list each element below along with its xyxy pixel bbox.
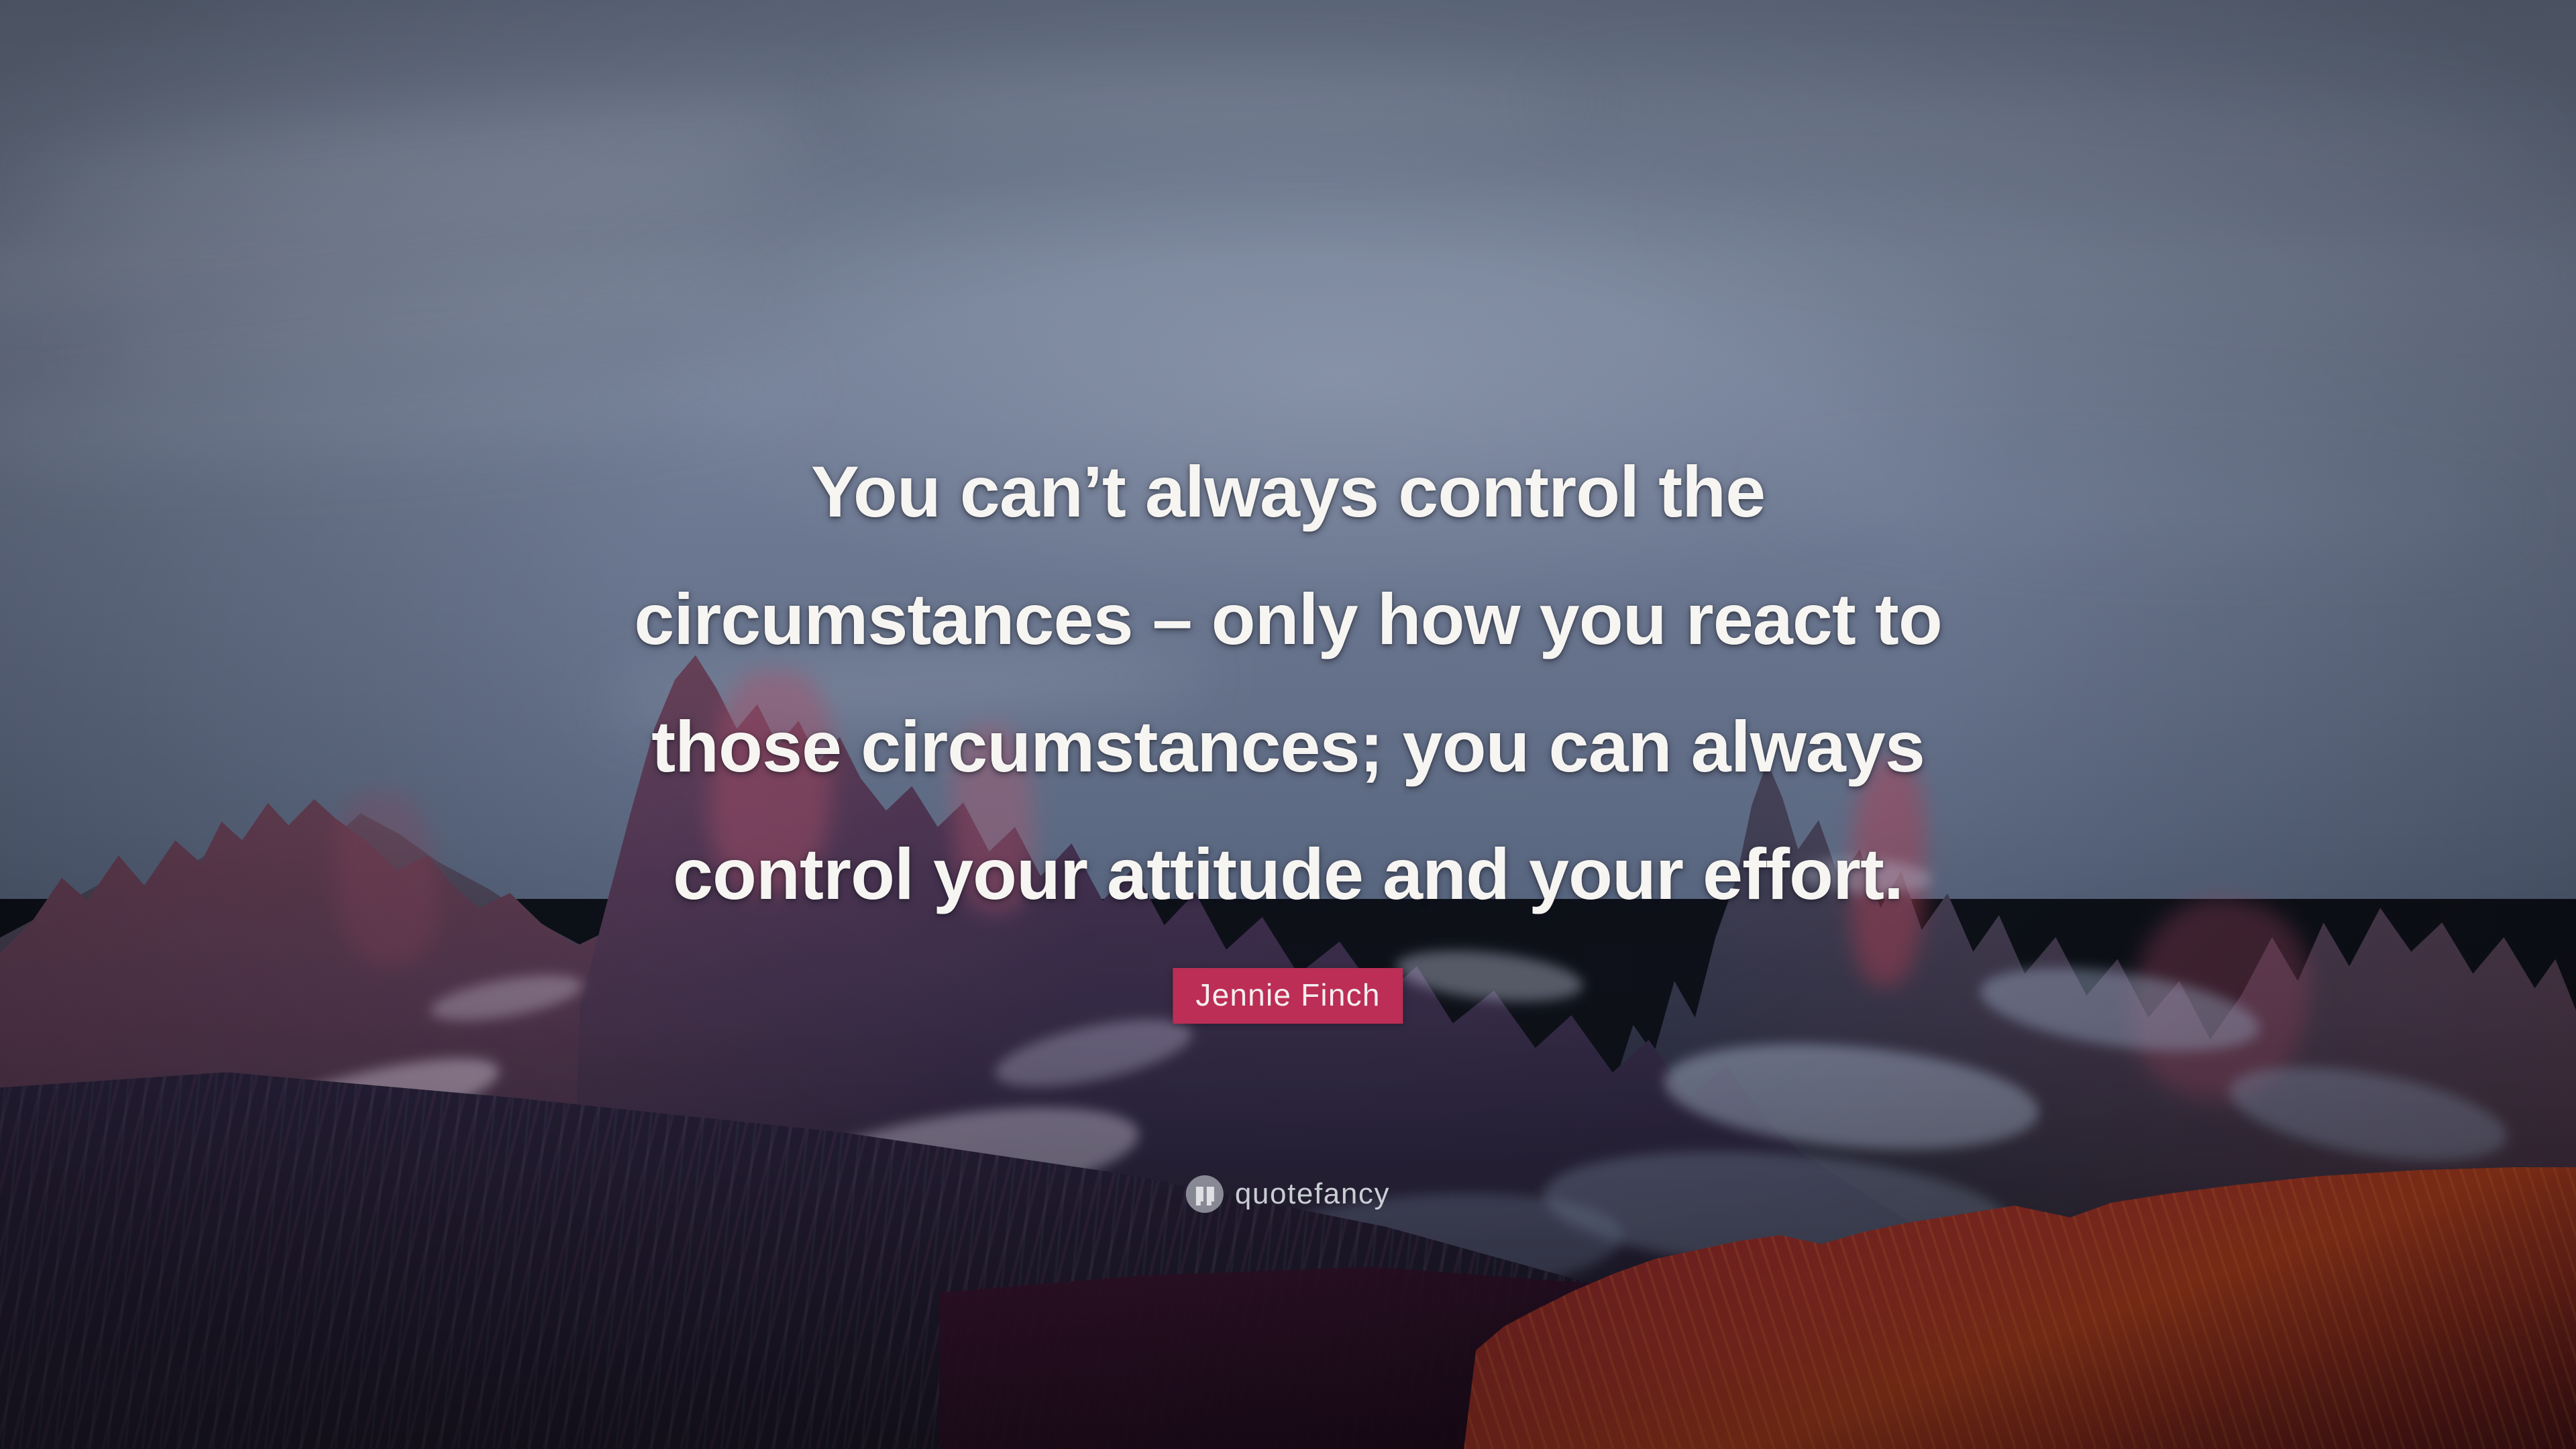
text-overlay: You can’t always control the circumstanc… [0,0,2576,1449]
author-name-badge: Jennie Finch [1173,968,1403,1024]
quote-line-2: circumstances – only how you react to [557,555,2019,683]
quote-line-1: You can’t always control the [557,428,2019,555]
quote-line-4: control your attitude and your effort. [557,810,2019,938]
quotefancy-watermark[interactable]: quotefancy [1186,1175,1390,1213]
quote-line-3: those circumstances; you can always [557,683,2019,810]
quote-wallpaper: You can’t always control the circumstanc… [0,0,2576,1449]
quote-mark-icon [1186,1175,1224,1213]
author-attribution: Jennie Finch [1173,968,1403,1024]
quote-text: You can’t always control the circumstanc… [557,428,2019,938]
brand-name: quotefancy [1235,1177,1390,1211]
